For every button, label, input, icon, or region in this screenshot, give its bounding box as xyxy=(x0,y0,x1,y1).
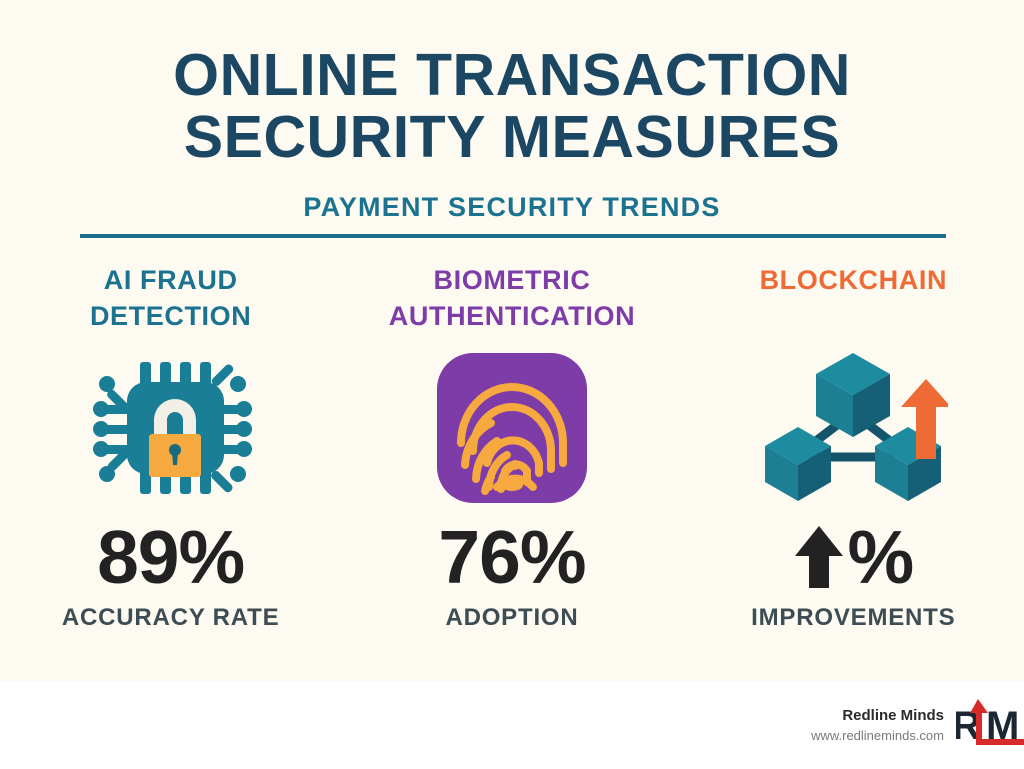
heading-line-1: AI FRAUD xyxy=(104,265,238,295)
fingerprint-icon xyxy=(431,347,593,509)
heading-line-2: DETECTION xyxy=(90,301,251,331)
column-heading-blockchain: BLOCKCHAIN xyxy=(760,262,948,340)
svg-text:M: M xyxy=(986,704,1019,748)
heading-line-1: BLOCKCHAIN xyxy=(760,265,948,295)
stats-columns: AI FRAUD DETECTION xyxy=(0,262,1024,642)
footer-brand: Redline Minds www.redlineminds.com R M xyxy=(811,695,1024,755)
brand-text-block: Redline Minds www.redlineminds.com xyxy=(811,706,956,745)
page-subtitle: PAYMENT SECURITY TRENDS xyxy=(0,192,1024,223)
stat-label-adoption: ADOPTION xyxy=(445,604,578,632)
infographic-poster: ONLINE TRANSACTION SECURITY MEASURES PAY… xyxy=(0,0,1024,769)
title-line-2: SECURITY MEASURES xyxy=(0,106,1024,168)
column-ai-fraud-detection: AI FRAUD DETECTION xyxy=(0,262,341,642)
column-heading-ai-fraud-detection: AI FRAUD DETECTION xyxy=(90,262,251,340)
brand-name: Redline Minds xyxy=(811,706,944,726)
column-biometric-authentication: BIOMETRIC AUTHENTICATION xyxy=(341,262,682,642)
cube-top xyxy=(816,353,890,437)
up-arrow-icon xyxy=(793,524,845,590)
logo-mark: R M xyxy=(956,695,1024,755)
footer-bar: Redline Minds www.redlineminds.com R M xyxy=(0,681,1024,769)
redline-minds-logo: R M xyxy=(956,695,1024,755)
column-blockchain: BLOCKCHAIN xyxy=(683,262,1024,642)
percent-symbol: % xyxy=(847,518,913,596)
icon-container-biometric xyxy=(431,340,593,516)
ai-chip-lock-icon xyxy=(87,344,255,512)
title-line-1: ONLINE TRANSACTION xyxy=(173,42,851,108)
icon-container-ai-fraud xyxy=(87,340,255,516)
blockchain-cubes-icon xyxy=(758,343,948,513)
stat-label-accuracy: ACCURACY RATE xyxy=(62,604,280,632)
stat-value-accuracy: 89% xyxy=(97,516,244,598)
heading-line-1: BIOMETRIC xyxy=(434,265,591,295)
header-divider xyxy=(80,234,946,238)
brand-url[interactable]: www.redlineminds.com xyxy=(811,726,944,745)
page-title: ONLINE TRANSACTION SECURITY MEASURES xyxy=(0,44,1024,168)
stat-value-adoption: 76% xyxy=(438,516,585,598)
icon-container-blockchain xyxy=(758,340,948,516)
arrow-percent-group: % xyxy=(793,518,913,596)
heading-line-2: AUTHENTICATION xyxy=(389,301,635,331)
stat-label-improvements: IMPROVEMENTS xyxy=(751,604,955,632)
column-heading-biometric-authentication: BIOMETRIC AUTHENTICATION xyxy=(389,262,635,340)
stat-value-improvements: % xyxy=(793,516,913,598)
